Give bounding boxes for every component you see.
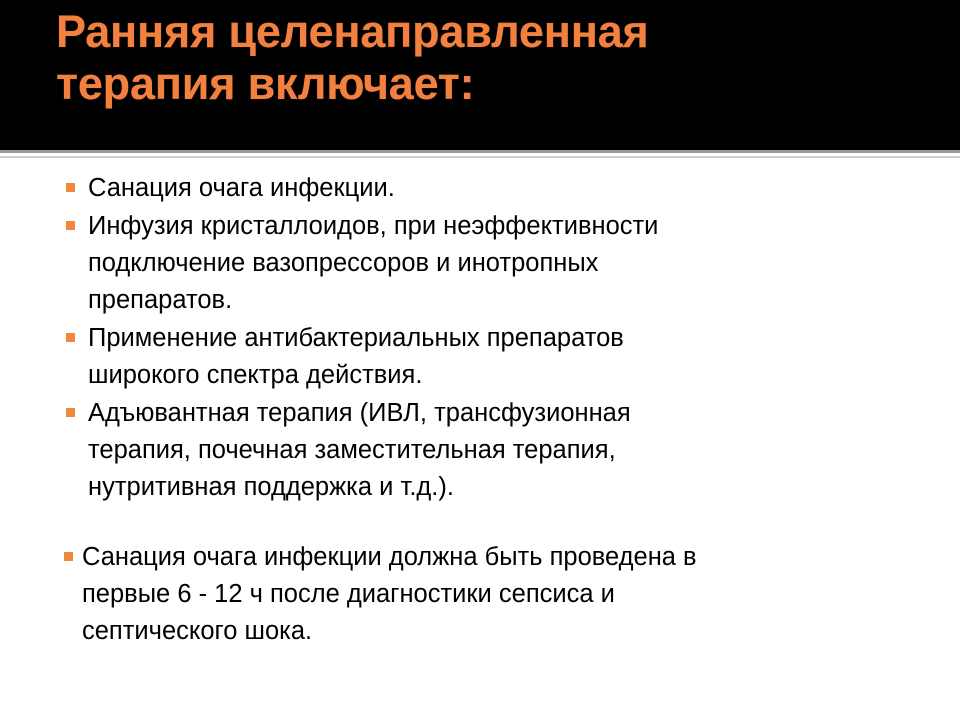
- divider-rule-light: [0, 156, 960, 158]
- list-item-label: Инфузия кристаллоидов, при неэффективнос…: [88, 208, 930, 319]
- list-item-label: Применение антибактериальных препаратов …: [88, 320, 930, 394]
- list-item: Инфузия кристаллоидов, при неэффективнос…: [62, 208, 930, 319]
- list-item: Санация очага инфекции должна быть прове…: [62, 539, 930, 650]
- square-bullet-icon: [64, 552, 73, 561]
- list-item: Адъювантная терапия (ИВЛ, трансфузионная…: [62, 395, 930, 506]
- bullet-group-timing-note: Санация очага инфекции должна быть прове…: [62, 539, 930, 650]
- title-banner: Ранняя целенаправленная терапия включает…: [0, 0, 960, 150]
- list-item-label: Адъювантная терапия (ИВЛ, трансфузионная…: [88, 395, 930, 506]
- list-item: Санация очага инфекции.: [62, 170, 930, 207]
- bullet-group-primary: Санация очага инфекции. Инфузия кристалл…: [62, 170, 930, 506]
- slide: Ранняя целенаправленная терапия включает…: [0, 0, 960, 720]
- list-item: Применение антибактериальных препаратов …: [62, 320, 930, 394]
- square-bullet-icon: [66, 408, 75, 417]
- list-item-label: Санация очага инфекции должна быть прове…: [82, 539, 930, 650]
- slide-body: Санация очага инфекции. Инфузия кристалл…: [0, 170, 960, 720]
- square-bullet-icon: [66, 183, 75, 192]
- square-bullet-icon: [66, 333, 75, 342]
- list-item-label: Санация очага инфекции.: [88, 170, 930, 207]
- square-bullet-icon: [66, 221, 75, 230]
- slide-title: Ранняя целенаправленная терапия включает…: [56, 6, 920, 110]
